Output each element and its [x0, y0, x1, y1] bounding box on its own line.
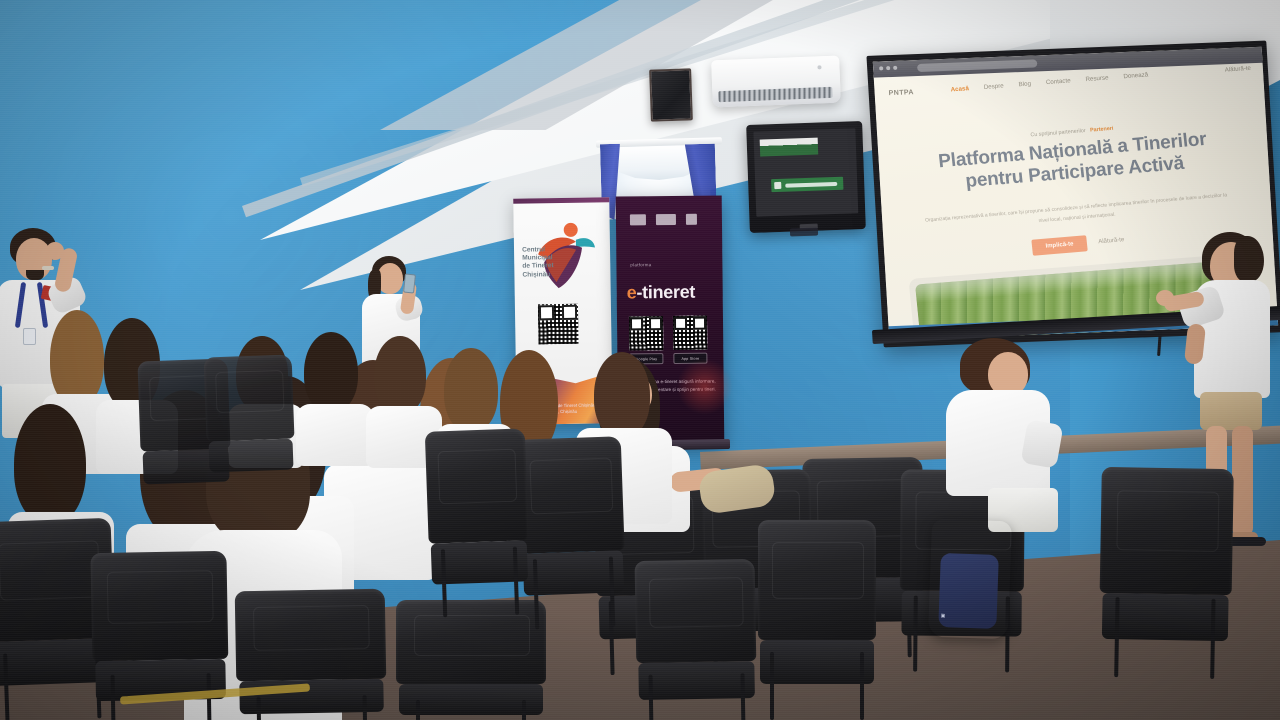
chair-row-back-1[interactable]	[1098, 467, 1234, 679]
tv-ui-panel-top	[760, 138, 819, 157]
presenter-hair-back	[1234, 236, 1264, 282]
backpack-logo: ▣	[941, 613, 946, 619]
camera-operator-phone[interactable]	[403, 273, 416, 293]
nav-item-contacte[interactable]: Contacte	[1046, 77, 1071, 86]
presenter-leg-right	[1232, 426, 1253, 536]
audience-person-11-shirt	[296, 404, 374, 466]
organizer-beard	[26, 270, 44, 280]
cmtc-name-line-4: Chișinău	[522, 271, 568, 280]
banner-etineret-title: e-tineret	[627, 282, 696, 304]
chair-back-left-2[interactable]	[204, 355, 297, 498]
banner-partner-logos	[630, 214, 697, 226]
chair-front-3[interactable]	[235, 589, 388, 720]
hero-secondary-link[interactable]: Alătură-te	[1098, 237, 1125, 245]
hero-eyebrow-accent: Parteneri	[1090, 126, 1114, 134]
tv-wall-mount	[790, 228, 818, 237]
banner-etineret-kicker: platforma	[630, 262, 651, 267]
banner-etineret-title-suffix: -tineret	[636, 282, 695, 303]
chair-row-front-5[interactable]	[635, 559, 758, 720]
wall-speaker	[649, 68, 693, 121]
audience-person-14-hair	[14, 404, 86, 524]
chair-row-mid-3[interactable]	[758, 520, 876, 720]
ac-indicator-led	[817, 65, 821, 69]
organizer-wristwatch	[42, 266, 54, 270]
tv-ui-panel-dialog	[771, 177, 843, 193]
nav-item-acasa[interactable]: Acasă	[950, 85, 969, 93]
organizer-hand	[46, 242, 64, 260]
nav-item-blog[interactable]: Blog	[1018, 80, 1031, 88]
partner-logo-3-icon	[686, 214, 697, 225]
presenter-shorts	[1200, 392, 1262, 430]
navy-backpack[interactable]: ▣	[928, 519, 1012, 640]
organizer-id-badge	[23, 328, 36, 345]
audience-person-12-hair	[374, 336, 426, 414]
audience-person-1-hair	[594, 352, 650, 438]
site-logo[interactable]: PNTPA	[889, 89, 915, 97]
browser-window-controls[interactable]	[879, 66, 897, 71]
banner-etineret-title-prefix: e	[627, 282, 637, 302]
partner-logo-1-icon	[630, 214, 646, 225]
wall-mounted-tv[interactable]	[746, 121, 866, 233]
nav-item-resurse[interactable]: Resurse	[1085, 74, 1109, 83]
banner-cmtc-topbar	[513, 197, 609, 204]
nav-item-despre[interactable]: Despre	[983, 82, 1004, 91]
ac-vent	[718, 87, 832, 102]
tv-screen	[753, 128, 858, 217]
nav-join-link[interactable]: Alătură-te	[1225, 66, 1252, 74]
chair-mid-left-1[interactable]	[517, 436, 628, 630]
qr-app-store	[673, 316, 707, 350]
hero-eyebrow-text: Cu sprijinul partenerilor	[1030, 128, 1086, 138]
cmtc-org-name: Centrul Municipal de Tineret Chișinău	[522, 246, 569, 280]
nav-item-doneaza[interactable]: Donează	[1123, 71, 1148, 80]
browser-address-bar[interactable]	[917, 59, 1037, 72]
audience-person-11-hair	[304, 332, 358, 412]
hero-primary-button[interactable]: Implică-te	[1032, 235, 1087, 255]
chair-mid-left-2[interactable]	[425, 428, 531, 617]
cmtc-qr-code	[538, 304, 579, 345]
qr-google-play	[629, 316, 663, 350]
audience-person-13-hair	[444, 348, 498, 432]
presenter-pointing-hand	[1156, 290, 1174, 306]
photo-scene: PNTPA Acasă Despre Blog Contacte Resurse…	[0, 0, 1280, 720]
backpack-front-pocket	[938, 553, 999, 629]
site-nav-items: Acasă Despre Blog Contacte Resurse Donea…	[950, 71, 1148, 93]
air-conditioner	[711, 56, 841, 108]
partner-logo-2-icon	[656, 214, 676, 225]
seated-boy-arm	[1020, 419, 1063, 469]
presenter-sandal	[1228, 537, 1266, 546]
